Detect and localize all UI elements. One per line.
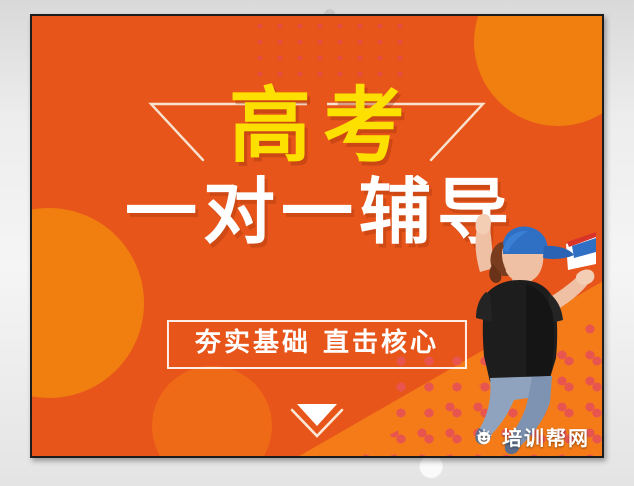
page-title: 高考 (32, 86, 602, 168)
smiley-sun-logo-icon (473, 425, 495, 451)
jumping-student-illustration (446, 206, 596, 456)
tagline-box: 夯实基础 直击核心 (167, 320, 467, 369)
poster-canvas: 高考 一对一辅导 夯实基础 直击核心 (0, 0, 634, 486)
watermark: 培训帮网 (467, 422, 596, 454)
down-arrow-icon (280, 398, 354, 444)
dot-grid-top (250, 18, 410, 78)
circle-mid (152, 366, 272, 458)
poster-artwork: 高考 一对一辅导 夯实基础 直击核心 (30, 14, 604, 458)
watermark-text: 培训帮网 (502, 428, 590, 448)
tagline-text: 夯实基础 直击核心 (195, 329, 439, 358)
